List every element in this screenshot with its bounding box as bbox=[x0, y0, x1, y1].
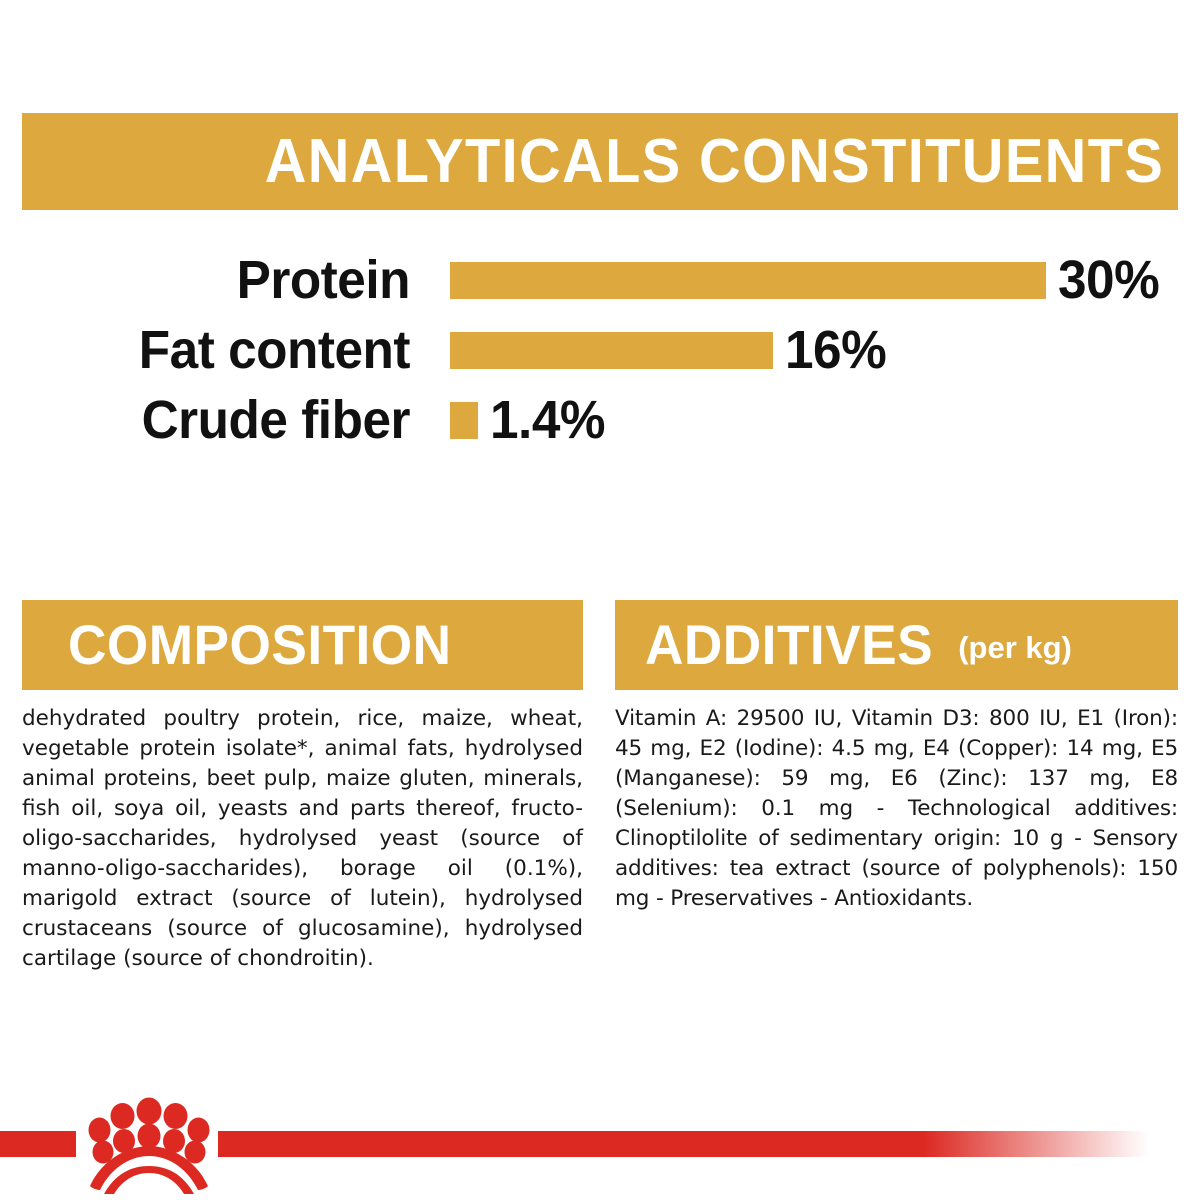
nutrition-panel-page: ANALYTICALS CONSTITUENTS Protein 30% Fat… bbox=[0, 0, 1200, 1200]
bar-area-protein: 30% bbox=[410, 246, 1200, 314]
bar-label-fat-content: Fat content bbox=[21, 322, 411, 378]
page-title: ANALYTICALS CONSTITUENTS bbox=[265, 131, 1164, 193]
chart-row-fat-content: Fat content 16% bbox=[0, 316, 1200, 384]
analytical-constituents-banner: ANALYTICALS CONSTITUENTS bbox=[22, 113, 1178, 210]
footer-rule-right bbox=[218, 1131, 1148, 1157]
bar-value-fat-content: 16% bbox=[785, 322, 886, 378]
composition-banner: COMPOSITION bbox=[22, 600, 583, 690]
analytical-constituents-chart: Protein 30% Fat content 16% Crude fiber … bbox=[0, 240, 1200, 470]
brand-footer bbox=[0, 1124, 1200, 1200]
additives-heading: ADDITIVES bbox=[645, 617, 933, 673]
bar-value-crude-fiber: 1.4% bbox=[490, 392, 605, 448]
bar-protein bbox=[450, 262, 1046, 299]
composition-heading: COMPOSITION bbox=[68, 617, 452, 673]
additives-panel: ADDITIVES (per kg) Vitamin A: 29500 IU, … bbox=[615, 600, 1178, 914]
royal-canin-crown-icon bbox=[84, 1094, 214, 1194]
bar-crude-fiber bbox=[450, 402, 478, 439]
chart-row-crude-fiber: Crude fiber 1.4% bbox=[0, 386, 1200, 454]
composition-text: dehydrated poultry protein, rice, maize,… bbox=[22, 704, 583, 974]
additives-text: Vitamin A: 29500 IU, Vitamin D3: 800 IU,… bbox=[615, 704, 1178, 914]
bar-label-protein: Protein bbox=[21, 252, 411, 308]
composition-panel: COMPOSITION dehydrated poultry protein, … bbox=[22, 600, 583, 974]
chart-row-protein: Protein 30% bbox=[0, 246, 1200, 314]
bar-area-crude-fiber: 1.4% bbox=[410, 386, 1200, 454]
bar-area-fat-content: 16% bbox=[410, 316, 1200, 384]
bar-label-crude-fiber: Crude fiber bbox=[21, 392, 411, 448]
additives-heading-suffix: (per kg) bbox=[958, 632, 1072, 663]
footer-rule-left bbox=[0, 1131, 76, 1157]
additives-banner: ADDITIVES (per kg) bbox=[615, 600, 1178, 690]
bar-value-protein: 30% bbox=[1058, 252, 1159, 308]
bar-fat-content bbox=[450, 332, 773, 369]
